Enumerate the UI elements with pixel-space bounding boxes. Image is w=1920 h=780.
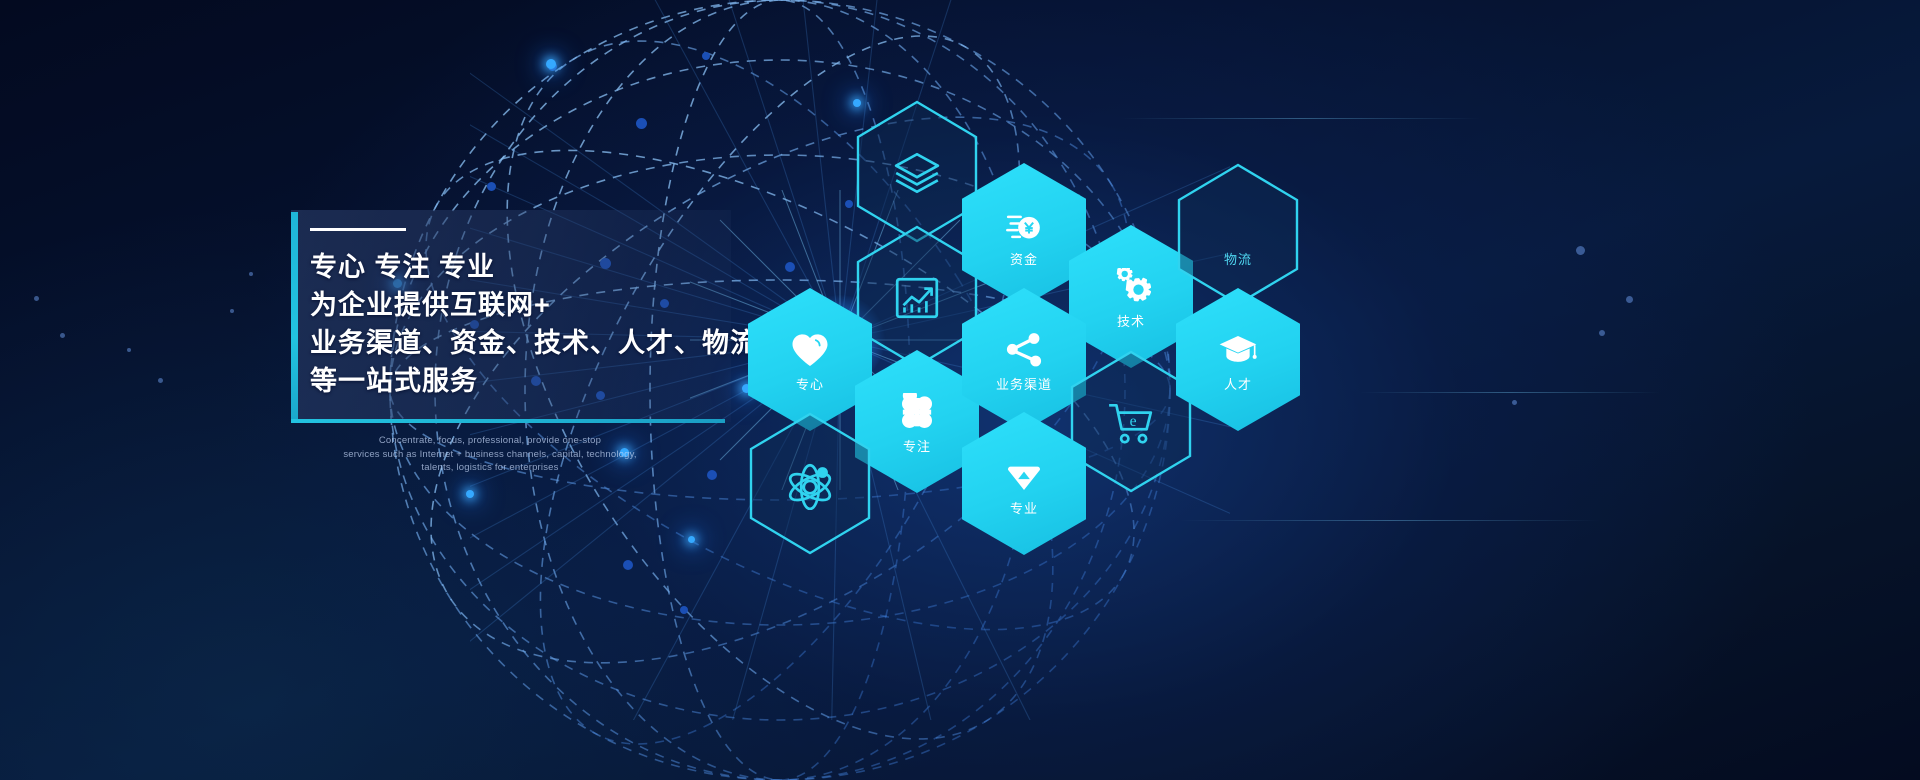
shopping-cart-icon: e xyxy=(1106,398,1156,448)
hexagon-content: 物流 xyxy=(1218,163,1258,306)
network-node xyxy=(127,348,131,352)
graduation-cap-icon xyxy=(1218,331,1258,371)
network-node xyxy=(688,536,695,543)
hexagon-cart[interactable]: e xyxy=(1069,350,1193,493)
heart-icon xyxy=(790,331,830,371)
headline-line-2: 为企业提供互联网+ xyxy=(310,286,740,324)
hexagon-label: 专心 xyxy=(796,378,824,391)
network-node xyxy=(249,272,253,276)
hexagon-layers[interactable] xyxy=(855,100,979,243)
network-node xyxy=(707,470,717,480)
title-divider-rule xyxy=(310,228,406,231)
atom-icon xyxy=(785,460,835,510)
hero-subtitle: Concentrate, focus, professional, provid… xyxy=(340,434,640,475)
hexagon-label: 资金 xyxy=(1010,253,1038,266)
clover-icon xyxy=(897,393,937,433)
hexagon-label: 技术 xyxy=(1117,315,1145,328)
hexagon-growth[interactable] xyxy=(855,225,979,368)
hexagon-content: e xyxy=(1106,350,1156,493)
hexagon-content: 专心 xyxy=(790,288,830,431)
headline-line-1: 专心 专注 专业 xyxy=(310,248,740,286)
layers-icon xyxy=(892,148,942,198)
hexagon-cluster: 资金技术物流专心专注业务渠道e人才专业 xyxy=(740,100,1300,530)
diamond-icon xyxy=(1004,455,1044,495)
network-node xyxy=(546,59,556,69)
network-node xyxy=(230,309,234,313)
hexagon-content: 技术 xyxy=(1111,225,1151,368)
hexagon-logistics[interactable]: 物流 xyxy=(1176,163,1300,306)
network-node xyxy=(1626,296,1633,303)
hexagon-label: 业务渠道 xyxy=(996,378,1052,391)
hero-banner: 专心 专注 专业 为企业提供互联网+ 业务渠道、资金、技术、人才、物流 等一站式… xyxy=(0,0,1920,780)
hexagon-content xyxy=(892,225,942,368)
hexagon-label: 专注 xyxy=(903,440,931,453)
gears-icon xyxy=(1111,268,1151,308)
hexagon-focusheart[interactable]: 专心 xyxy=(748,288,872,431)
network-node xyxy=(636,118,647,129)
network-node xyxy=(1599,330,1605,336)
hexagon-content xyxy=(892,100,942,243)
hexagon-attention[interactable]: 专注 xyxy=(855,350,979,493)
subtitle-line-3: talents, logistics for enterprises xyxy=(340,461,640,475)
network-node xyxy=(466,490,474,498)
hexagon-capital[interactable]: 资金 xyxy=(962,163,1086,306)
hero-text-content: 专心 专注 专业 为企业提供互联网+ 业务渠道、资金、技术、人才、物流 等一站式… xyxy=(310,228,740,400)
hexagon-content: 资金 xyxy=(1004,163,1044,306)
share-nodes-icon xyxy=(1004,331,1044,371)
hexagon-content: 人才 xyxy=(1218,288,1258,431)
network-node xyxy=(623,560,633,570)
subtitle-line-1: Concentrate, focus, professional, provid… xyxy=(340,434,640,448)
hexagon-talents[interactable]: 人才 xyxy=(1176,288,1300,431)
network-node xyxy=(680,606,688,614)
hexagon-content xyxy=(785,412,835,555)
headline-line-3: 业务渠道、资金、技术、人才、物流 xyxy=(310,324,740,362)
hexagon-label: 物流 xyxy=(1224,253,1252,266)
chart-growth-icon xyxy=(892,273,942,323)
hexagon-content: 专业 xyxy=(1004,412,1044,555)
network-node xyxy=(34,296,39,301)
truck-icon xyxy=(1218,206,1258,246)
scan-line xyxy=(1360,392,1660,393)
accent-bar-left xyxy=(291,212,298,422)
hexagon-content: 专注 xyxy=(897,350,937,493)
hexagon-label: 专业 xyxy=(1010,502,1038,515)
network-node xyxy=(487,182,496,191)
headline-line-4: 等一站式服务 xyxy=(310,362,740,400)
hexagon-label: 人才 xyxy=(1224,378,1252,391)
network-node xyxy=(548,62,557,71)
hexagon-channels[interactable]: 业务渠道 xyxy=(962,288,1086,431)
accent-bar-bottom xyxy=(291,419,725,423)
network-node xyxy=(1512,400,1517,405)
network-node xyxy=(1576,246,1585,255)
hexagon-content: 业务渠道 xyxy=(996,288,1052,431)
svg-text:e: e xyxy=(1130,413,1137,430)
network-node xyxy=(158,378,163,383)
network-node xyxy=(702,52,710,60)
yen-money-icon xyxy=(1004,206,1044,246)
hexagon-pro[interactable]: 专业 xyxy=(962,412,1086,555)
subtitle-line-2: services such as Internet + business cha… xyxy=(340,448,640,462)
network-node xyxy=(60,333,65,338)
hexagon-atom[interactable] xyxy=(748,412,872,555)
hexagon-tech[interactable]: 技术 xyxy=(1069,225,1193,368)
